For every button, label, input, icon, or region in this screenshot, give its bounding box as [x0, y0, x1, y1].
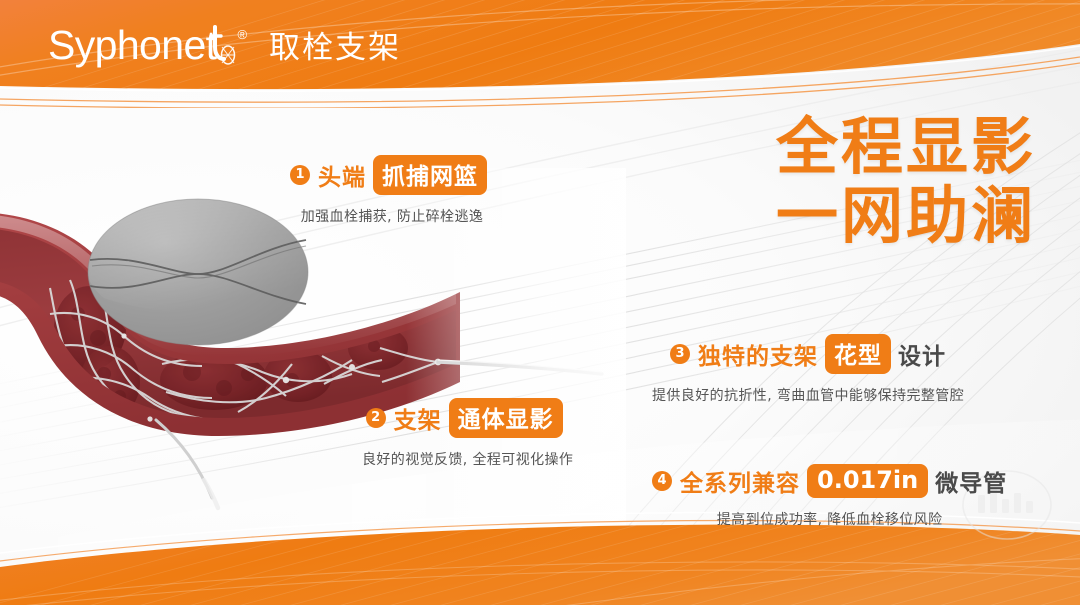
product-name-label: 取栓支架	[269, 28, 401, 64]
feature-1-prefix: 头端	[318, 158, 366, 192]
headline-line-1: 全程显影	[776, 112, 1036, 181]
feature-3-number-badge: 3	[670, 344, 690, 364]
feature-callout-2: 2 支架 通体显影 良好的视觉反馈, 全程可视化操作	[362, 398, 573, 469]
feature-callout-4: 4 全系列兼容 0.017in 微导管 提高到位成功率, 降低血栓移位风险	[652, 464, 1007, 529]
feature-1-subtitle: 加强血栓捕获, 防止碎栓逃逸	[290, 206, 494, 226]
feature-1-number-badge: 1	[290, 165, 310, 185]
feature-2-highlight-pill: 通体显影	[449, 398, 563, 438]
stent-hook-icon	[210, 25, 236, 67]
feature-callout-3: 3 独特的支架 花型 设计 提供良好的抗折性, 弯曲血管中能够保持完整管腔	[652, 334, 964, 405]
feature-3-subtitle: 提供良好的抗折性, 弯曲血管中能够保持完整管腔	[652, 385, 964, 405]
feature-2-heading: 2 支架 通体显影	[362, 398, 573, 438]
feature-2-subtitle: 良好的视觉反馈, 全程可视化操作	[362, 449, 573, 469]
feature-4-highlight-pill: 0.017in	[807, 464, 928, 498]
header-bar: Syphonet ® 取栓支架	[0, 0, 1080, 92]
feature-4-number-badge: 4	[652, 471, 672, 491]
headline-line-2: 一网助澜	[776, 181, 1036, 250]
feature-4-heading: 4 全系列兼容 0.017in 微导管	[652, 464, 1007, 498]
feature-3-prefix: 独特的支架	[698, 337, 818, 371]
feature-3-suffix: 设计	[898, 337, 946, 371]
feature-4-subtitle: 提高到位成功率, 降低血栓移位风险	[652, 509, 1007, 529]
feature-1-heading: 1 头端 抓捕网篮	[290, 155, 494, 195]
registered-trademark-icon: ®	[237, 28, 247, 41]
brand-logo: Syphonet ®	[48, 25, 247, 67]
feature-2-number-badge: 2	[366, 408, 386, 428]
feature-4-suffix: 微导管	[935, 464, 1007, 498]
feature-3-highlight-pill: 花型	[825, 334, 891, 374]
magnifier-bubble	[88, 199, 308, 345]
feature-4-prefix: 全系列兼容	[680, 464, 800, 498]
logo-wordmark: Syphonet	[48, 25, 216, 66]
feature-3-heading: 3 独特的支架 花型 设计	[652, 334, 964, 374]
feature-1-highlight-pill: 抓捕网篮	[373, 155, 487, 195]
headline-block: 全程显影 一网助澜	[776, 112, 1036, 251]
feature-callout-1: 1 头端 抓捕网篮 加强血栓捕获, 防止碎栓逃逸	[290, 155, 494, 226]
feature-2-prefix: 支架	[394, 401, 442, 435]
poster-canvas: Syphonet ® 取栓支架	[0, 0, 1080, 605]
